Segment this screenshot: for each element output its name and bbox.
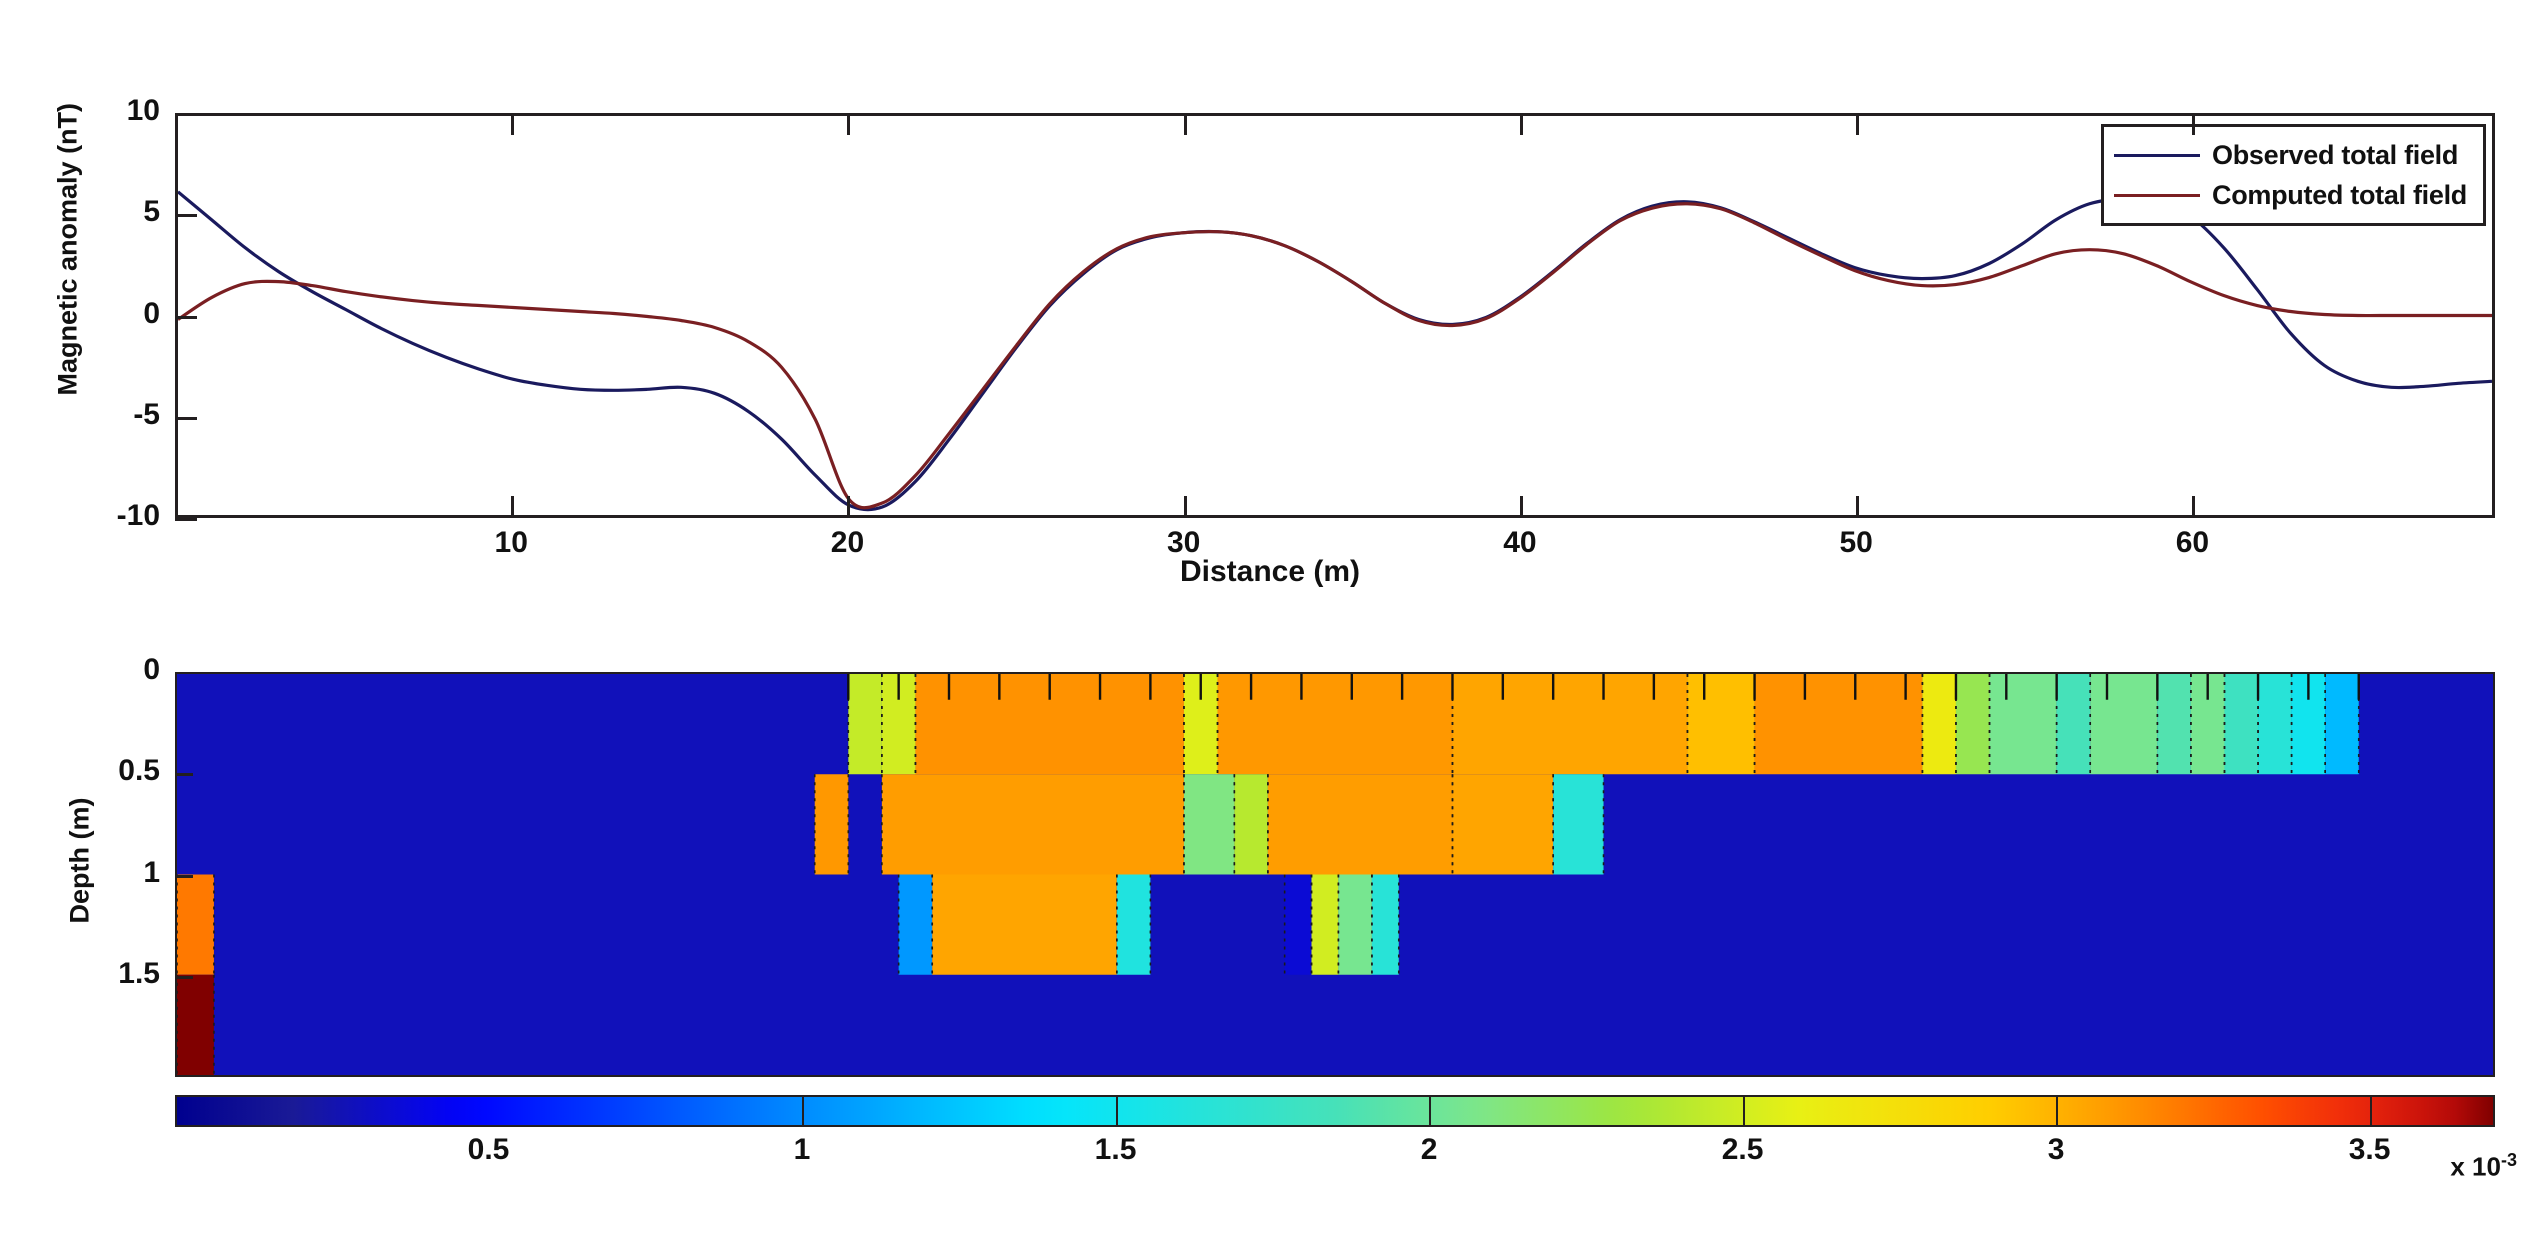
- profile-y-tick-label: 0: [90, 297, 160, 331]
- model-cells: [177, 674, 2493, 1075]
- model-cell: [899, 875, 933, 975]
- profile-y-tick-label: -10: [90, 499, 160, 533]
- profile-x-axis-title: Distance (m): [1180, 555, 1360, 589]
- model-cell: [815, 774, 849, 874]
- profile-y-tick-label: 5: [90, 195, 160, 229]
- legend-item-computed: Computed total field: [2114, 175, 2467, 215]
- profile-x-tick: [1184, 496, 1187, 518]
- colorbar-exponent-prefix: x 10: [2450, 1152, 2501, 1182]
- model-cell: [1687, 674, 1754, 774]
- model-cell: [1553, 774, 1603, 874]
- model-cell: [1268, 774, 1453, 874]
- profile-x-tick: [1520, 496, 1523, 518]
- colorbar-tick-label: 2: [1379, 1133, 1479, 1167]
- profile-x-tick-top: [2192, 113, 2195, 135]
- profile-y-tick: [175, 113, 197, 116]
- model-cell: [2224, 674, 2258, 774]
- profile-y-tick: [175, 316, 197, 319]
- model-cell: [1218, 674, 1453, 774]
- profile-x-tick: [511, 496, 514, 518]
- model-cell: [848, 674, 882, 774]
- colorbar-exponent-power: -3: [2501, 1150, 2517, 1170]
- figure-root: Observed total field Computed total fiel…: [0, 0, 2525, 1233]
- model-y-axis-title: Depth (m): [65, 771, 96, 951]
- profile-x-tick-top: [1184, 113, 1187, 135]
- model-cell: [882, 774, 1184, 874]
- model-cell: [1372, 875, 1399, 975]
- model-cell: [1117, 875, 1151, 975]
- profile-x-tick: [2192, 496, 2195, 518]
- profile-y-tick: [175, 518, 197, 521]
- model-y-tick-label: 1.5: [65, 957, 160, 991]
- model-cell: [2157, 674, 2191, 774]
- model-cell: [1452, 774, 1553, 874]
- model-cell: [932, 875, 1117, 975]
- model-cell: [1922, 674, 1956, 774]
- profile-x-tick-top: [847, 113, 850, 135]
- colorbar-tick-line: [1116, 1095, 1118, 1127]
- model-y-tick: [175, 875, 193, 878]
- colorbar-tick-label: 0.5: [439, 1133, 539, 1167]
- model-cell: [2325, 674, 2359, 774]
- legend-label-computed: Computed total field: [2212, 180, 2467, 211]
- profile-x-tick-label: 50: [1816, 526, 1896, 560]
- legend-item-observed: Observed total field: [2114, 135, 2467, 175]
- model-y-tick: [175, 773, 193, 776]
- profile-x-tick-label: 60: [2152, 526, 2232, 560]
- colorbar-tick-label: 2.5: [1693, 1133, 1793, 1167]
- profile-x-tick-label: 10: [471, 526, 551, 560]
- model-cell: [177, 875, 214, 975]
- profile-x-tick-label: 40: [1480, 526, 1560, 560]
- model-cell: [1285, 875, 1312, 975]
- model-cell: [1312, 875, 1339, 975]
- colorbar-tick-label: 3.5: [2320, 1133, 2420, 1167]
- colorbar-tick-line: [2370, 1095, 2372, 1127]
- model-cell: [2090, 674, 2157, 774]
- profile-legend: Observed total field Computed total fiel…: [2101, 124, 2486, 226]
- colorbar-tick-label: 1: [752, 1133, 852, 1167]
- computed-line-swatch-icon: [2114, 194, 2200, 197]
- profile-y-axis-title: Magnetic anomaly (nT): [53, 136, 84, 396]
- observed-field-curve: [178, 192, 2492, 510]
- profile-x-tick: [1856, 496, 1859, 518]
- model-cell: [1990, 674, 2057, 774]
- colorbar-tick-line: [1429, 1095, 1431, 1127]
- profile-y-tick: [175, 417, 197, 420]
- susceptibility-colorbar: [175, 1095, 2495, 1127]
- legend-label-observed: Observed total field: [2212, 140, 2458, 171]
- model-cell: [1234, 774, 1268, 874]
- colorbar-tick-label: 3: [2006, 1133, 2106, 1167]
- profile-x-tick-top: [511, 113, 514, 135]
- profile-y-tick-label: 10: [90, 94, 160, 128]
- model-cell: [2057, 674, 2091, 774]
- profile-x-tick-label: 20: [807, 526, 887, 560]
- observed-line-swatch-icon: [2114, 154, 2200, 157]
- profile-y-tick-label: -5: [90, 398, 160, 432]
- profile-y-tick: [175, 214, 197, 217]
- model-cell: [1184, 774, 1234, 874]
- model-cell: [1338, 875, 1372, 975]
- colorbar-tick-line: [1743, 1095, 1745, 1127]
- profile-x-tick-top: [1856, 113, 1859, 135]
- computed-field-curve: [178, 204, 2492, 508]
- colorbar-tick-line: [802, 1095, 804, 1127]
- profile-x-tick-top: [1520, 113, 1523, 135]
- profile-x-tick: [847, 496, 850, 518]
- colorbar-tick-line: [2056, 1095, 2058, 1127]
- model-cell: [1452, 674, 1687, 774]
- model-y-tick: [175, 976, 193, 979]
- model-cell: [2258, 674, 2292, 774]
- model-cell: [1956, 674, 1990, 774]
- colorbar-exponent-label: x 10-3: [2450, 1150, 2517, 1183]
- colorbar-tick-label: 1.5: [1066, 1133, 1166, 1167]
- model-cell: [1755, 674, 1923, 774]
- magnetic-anomaly-plot: Observed total field Computed total fiel…: [175, 113, 2495, 518]
- susceptibility-model-section: [175, 672, 2495, 1077]
- model-cell: [177, 975, 214, 1075]
- model-y-tick-label: 0: [65, 653, 160, 687]
